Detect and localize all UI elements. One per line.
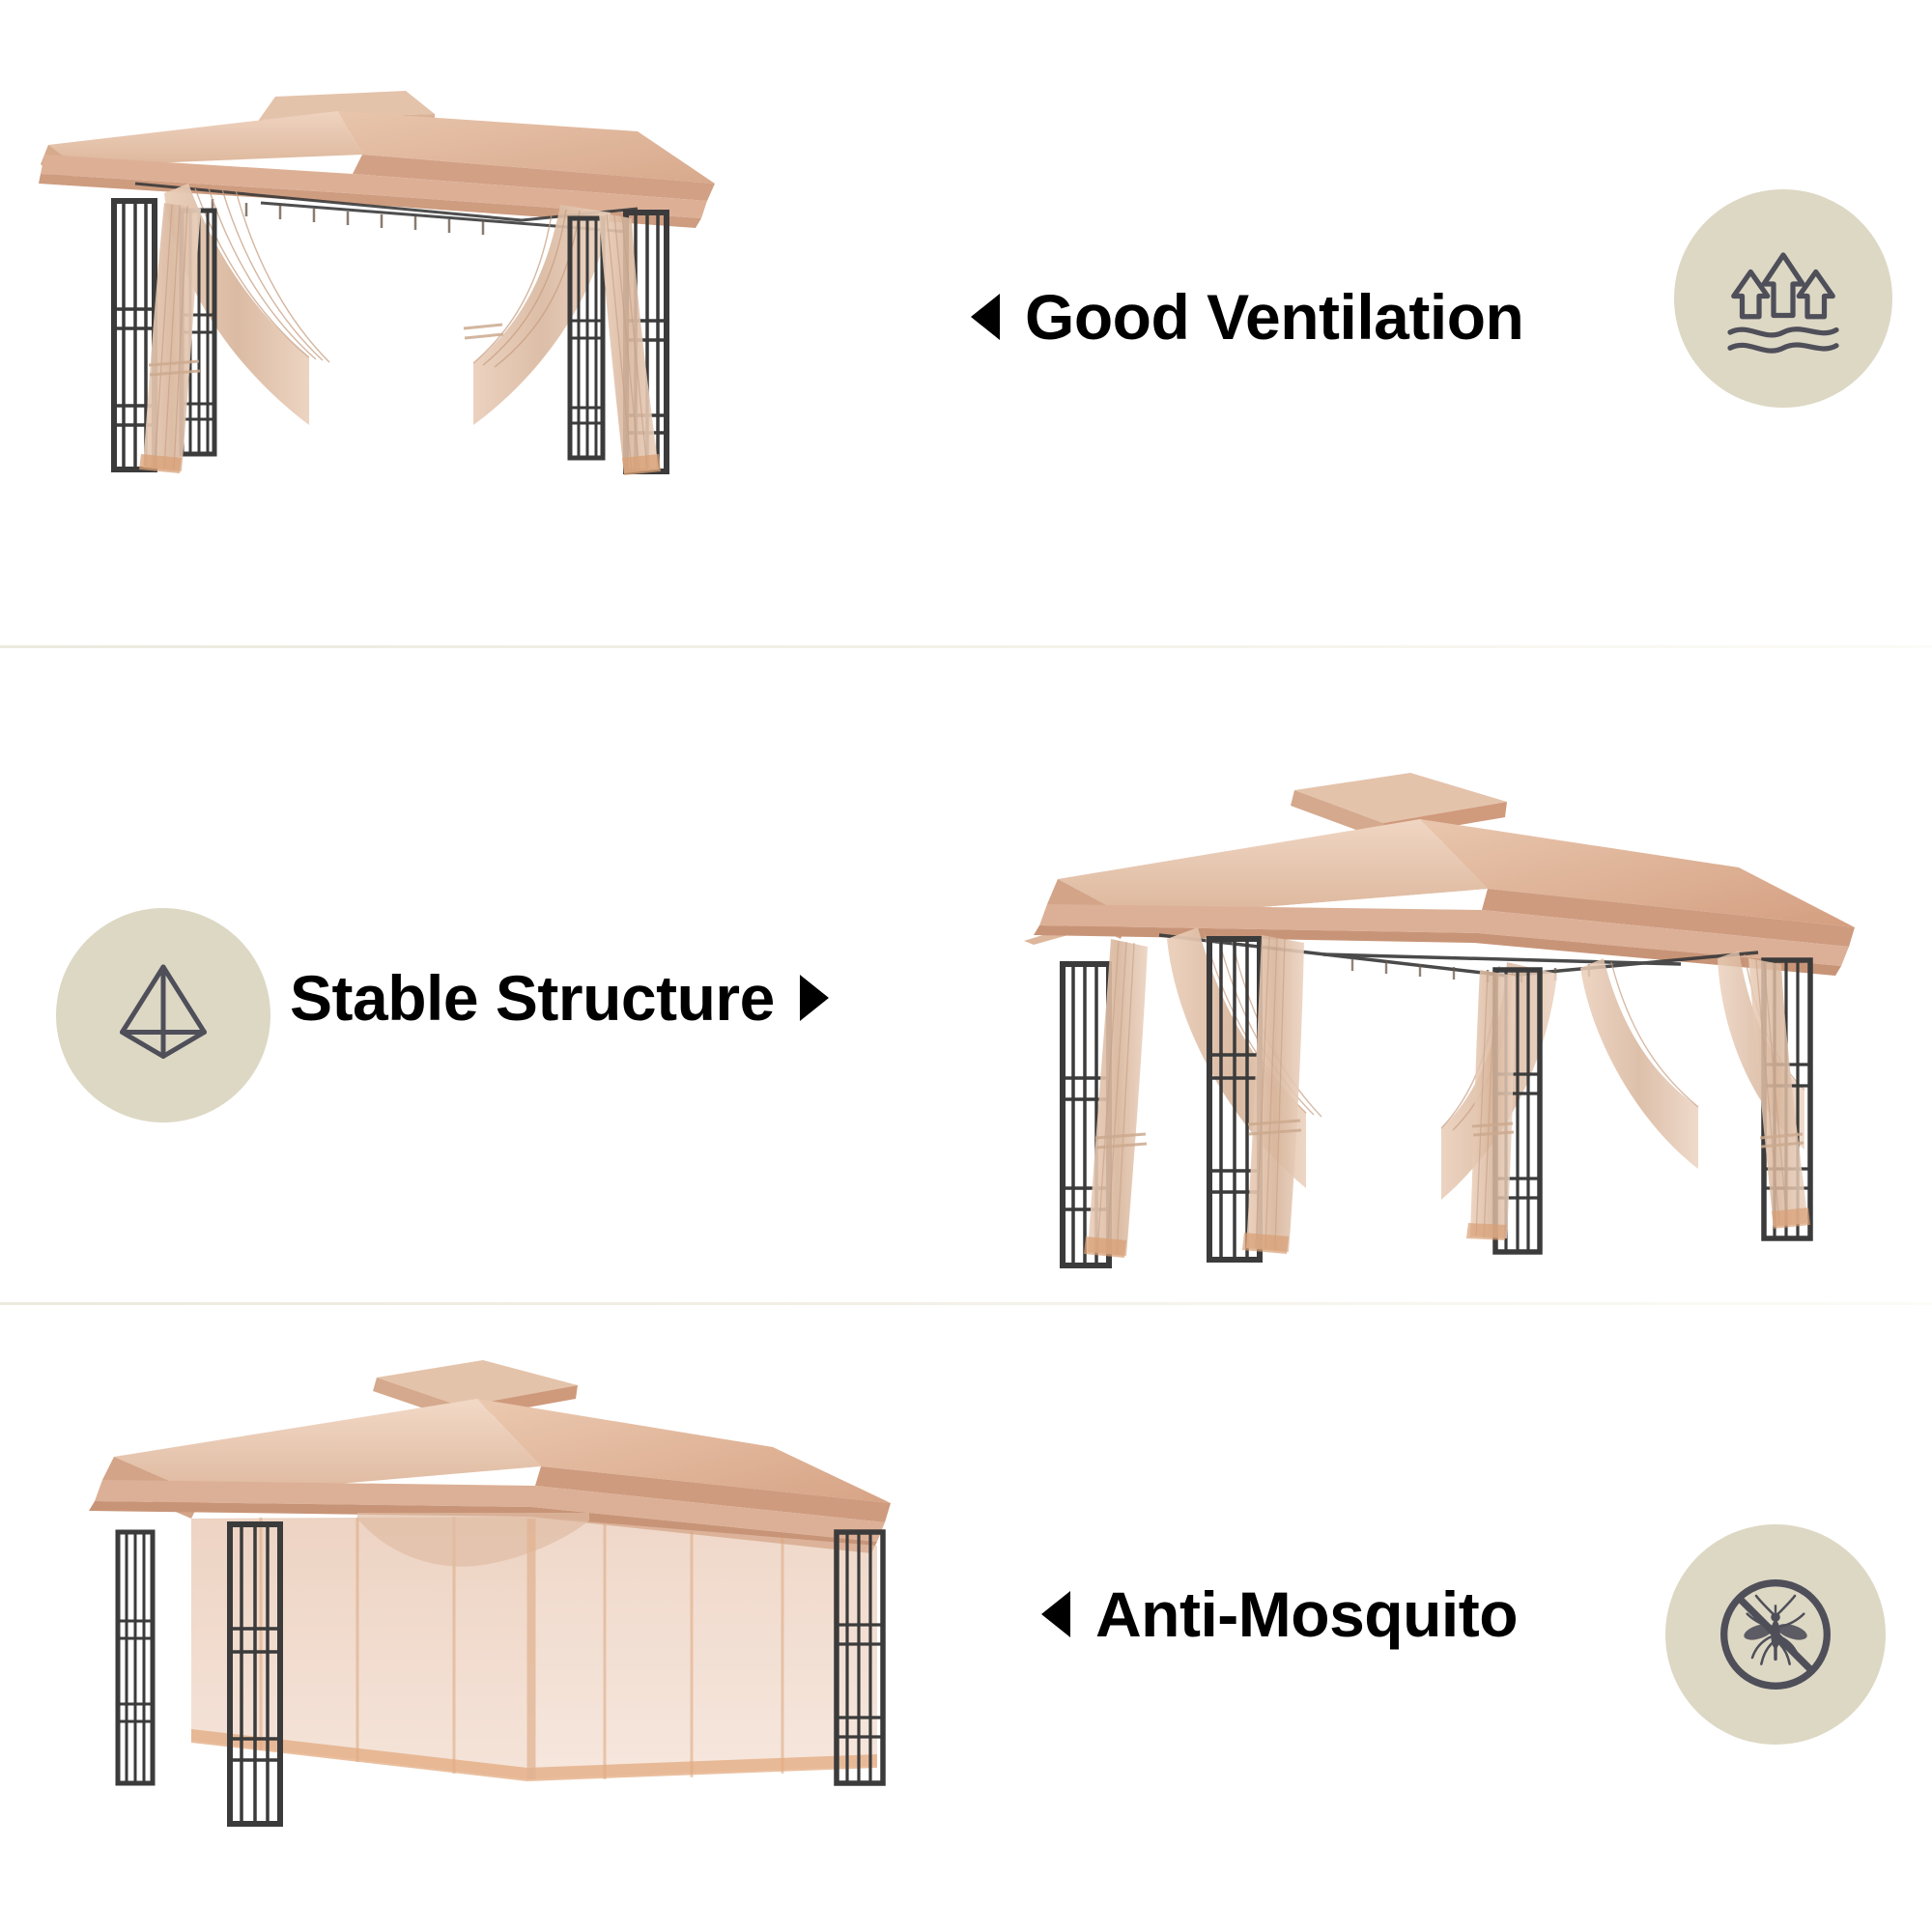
- triangle-left-icon: [1041, 1591, 1070, 1637]
- triangle-left-icon: [971, 294, 1000, 340]
- infographic-page: Good Ventilation: [0, 0, 1932, 1932]
- gazebo-full-angled-view: [1005, 734, 1893, 1275]
- feature-panel-mosquito: Anti-Mosquito: [0, 1304, 1932, 1932]
- pyramid-wireframe-icon: [91, 943, 236, 1088]
- no-mosquito-icon: [1698, 1557, 1853, 1712]
- feature-label-ventilation: Good Ventilation: [1025, 285, 1523, 349]
- airflow-arrows-icon: [1711, 226, 1856, 371]
- icon-badge-ventilation: [1674, 189, 1892, 408]
- feature-panel-structure: Stable Structure: [0, 647, 1932, 1304]
- gazebo-with-netting-view: [68, 1343, 937, 1845]
- feature-row-ventilation: Good Ventilation: [971, 285, 1523, 349]
- icon-badge-structure: [56, 908, 270, 1122]
- feature-row-mosquito: Anti-Mosquito: [1041, 1582, 1518, 1646]
- feature-panel-ventilation: Good Ventilation: [0, 0, 1932, 647]
- feature-row-structure: Stable Structure: [290, 966, 829, 1030]
- gazebo-open-sided-view: [19, 39, 734, 483]
- icon-badge-mosquito: [1665, 1524, 1886, 1745]
- feature-label-structure: Stable Structure: [290, 966, 775, 1030]
- triangle-right-icon: [800, 975, 829, 1021]
- feature-label-mosquito: Anti-Mosquito: [1095, 1582, 1518, 1646]
